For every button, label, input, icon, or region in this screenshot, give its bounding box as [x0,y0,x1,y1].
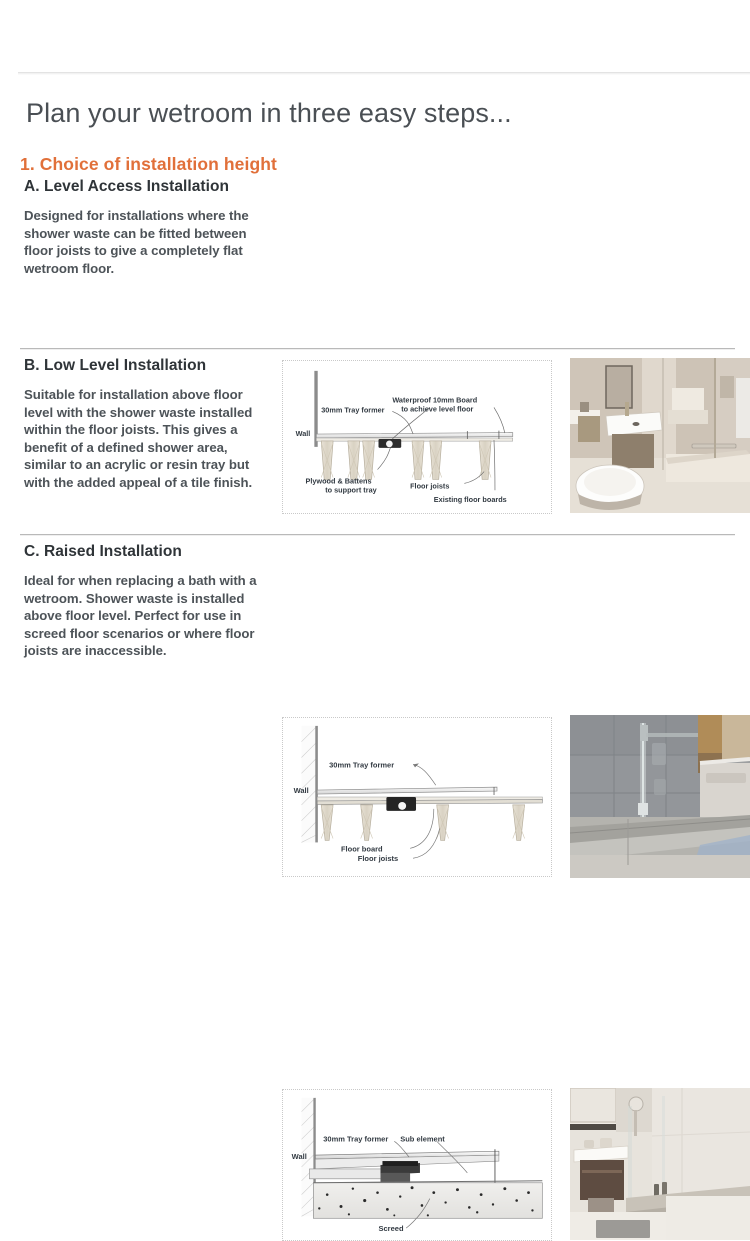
section-low-level: B. Low Level Installation Suitable for i… [0,357,750,532]
photo-raised-wetroom [570,1088,750,1240]
section-divider-2 [20,534,735,536]
label-tray-former: 30mm Tray former [329,760,394,769]
label-sub-element: Sub element [400,1134,445,1143]
label-floor-board: Floor board [341,844,383,853]
photo-low-level-wetroom [570,715,750,878]
raised-installation-diagram: Wall 30mm Tray former Sub element Screed [282,1089,552,1241]
label-tray-former: 30mm Tray former [323,1134,388,1143]
section-body-a: Designed for installations where the sho… [24,207,264,277]
step-heading: 1. Choice of installation height [20,154,277,175]
section-body-b: Suitable for installation above floor le… [24,386,264,492]
section-heading-b: B. Low Level Installation [24,357,264,375]
text-column-a: A. Level Access Installation Designed fo… [24,178,264,277]
page-title: Plan your wetroom in three easy steps... [26,98,512,129]
section-divider-1 [20,348,735,350]
text-column-b: B. Low Level Installation Suitable for i… [24,357,264,492]
label-wall: Wall [294,786,309,795]
label-screed: Screed [379,1224,404,1233]
section-level-access: A. Level Access Installation Designed fo… [0,178,750,348]
section-body-c: Ideal for when replacing a bath with a w… [24,572,264,660]
label-wall: Wall [292,1152,307,1161]
header-divider [18,72,750,75]
section-raised-installation: C. Raised Installation Ideal for when re… [0,543,750,701]
low-level-diagram: Wall 30mm Tray former Floor board Floor … [282,717,552,877]
section-heading-c: C. Raised Installation [24,543,264,561]
page-root: Plan your wetroom in three easy steps...… [0,0,750,750]
label-floor-joists: Floor joists [358,854,398,863]
text-column-c: C. Raised Installation Ideal for when re… [24,543,264,660]
section-heading-a: A. Level Access Installation [24,178,264,196]
